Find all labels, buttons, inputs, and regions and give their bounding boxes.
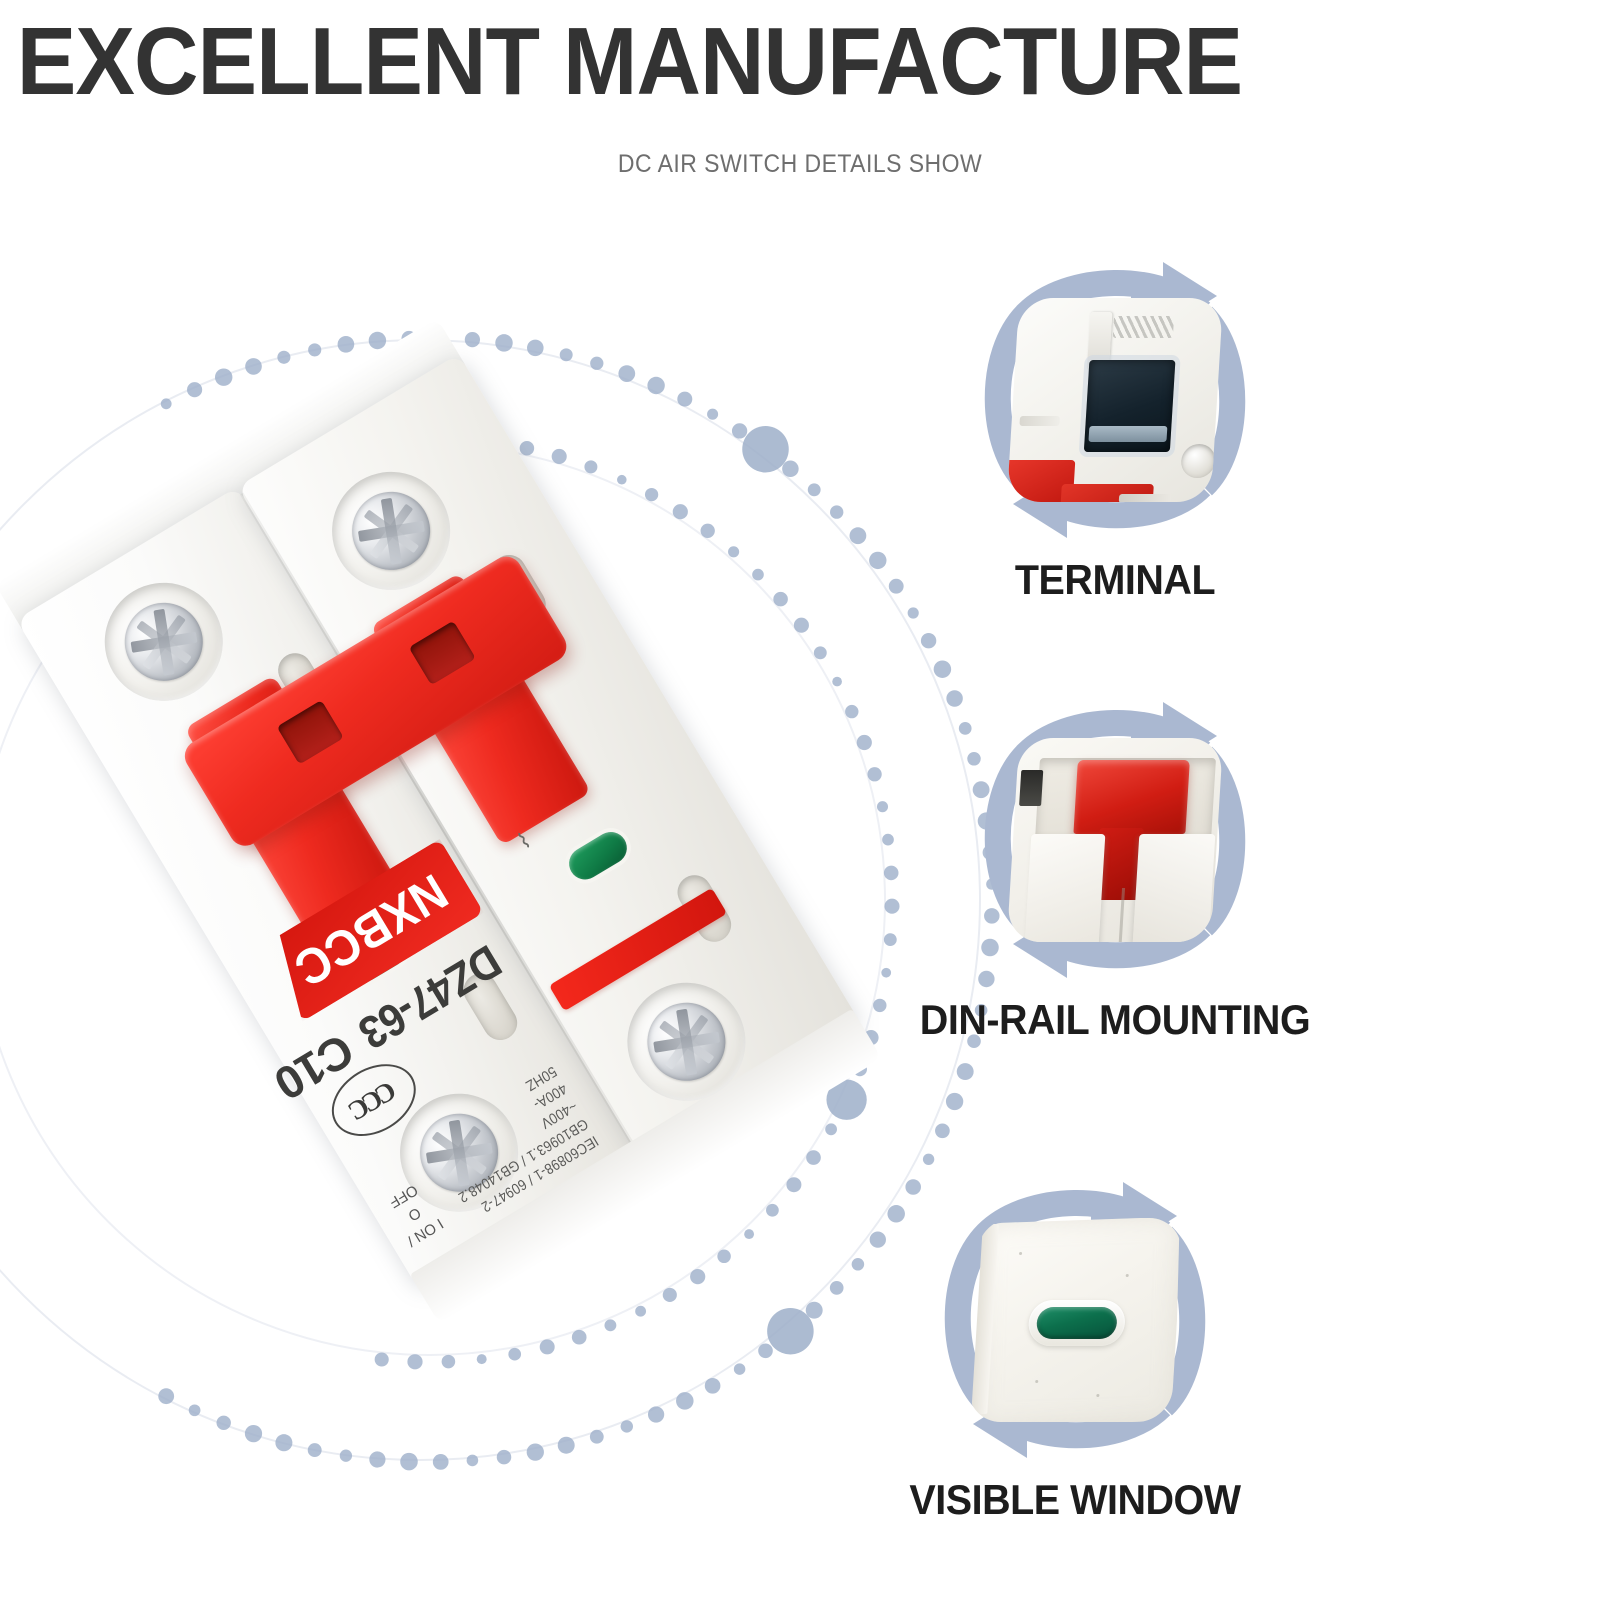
- phillips-screw-icon: [338, 477, 445, 584]
- feature-label-visible-window: VISIBLE WINDOW: [854, 1476, 1296, 1524]
- feature-label-terminal: TERMINAL: [894, 556, 1336, 604]
- visible-window-icon-wrap: [925, 1170, 1225, 1470]
- din-rail-red-clip: [1073, 760, 1190, 834]
- indicator-bezel: [1027, 1300, 1126, 1346]
- feature-terminal[interactable]: TERMINAL: [880, 250, 1350, 604]
- terminal-closeup-photo: [1007, 298, 1223, 502]
- green-indicator-led-icon: [1036, 1307, 1118, 1339]
- terminal-icon-wrap: [965, 250, 1265, 550]
- feature-visible-window[interactable]: VISIBLE WINDOW: [840, 1170, 1310, 1524]
- tie-bar-slot-1: [277, 700, 344, 764]
- din-rail-closeup-photo: [1007, 738, 1223, 942]
- infographic-page: EXCELLENT MANUFACTURE DC AIR SWITCH DETA…: [0, 0, 1600, 1600]
- page-title: EXCELLENT MANUFACTURE: [0, 0, 1488, 110]
- product-photo-stage: IEC60898-1 / 60947-2 GB10963.1 / GB14048…: [30, 300, 890, 1560]
- feature-din-rail-mounting[interactable]: DIN-RAIL MOUNTING: [880, 690, 1350, 1044]
- header: EXCELLENT MANUFACTURE DC AIR SWITCH DETA…: [0, 0, 1600, 179]
- din-rail-icon-wrap: [965, 690, 1265, 990]
- tie-bar-slot-2: [409, 621, 476, 685]
- circuit-breaker-product: IEC60898-1 / 60947-2 GB10963.1 / GB14048…: [16, 352, 863, 1288]
- page-subtitle: DC AIR SWITCH DETAILS SHOW: [64, 110, 1536, 179]
- phillips-screw-icon: [633, 988, 740, 1095]
- visible-window-closeup-photo: [967, 1218, 1183, 1422]
- feature-label-din-rail-mounting: DIN-RAIL MOUNTING: [894, 996, 1336, 1044]
- phillips-screw-icon: [110, 588, 217, 695]
